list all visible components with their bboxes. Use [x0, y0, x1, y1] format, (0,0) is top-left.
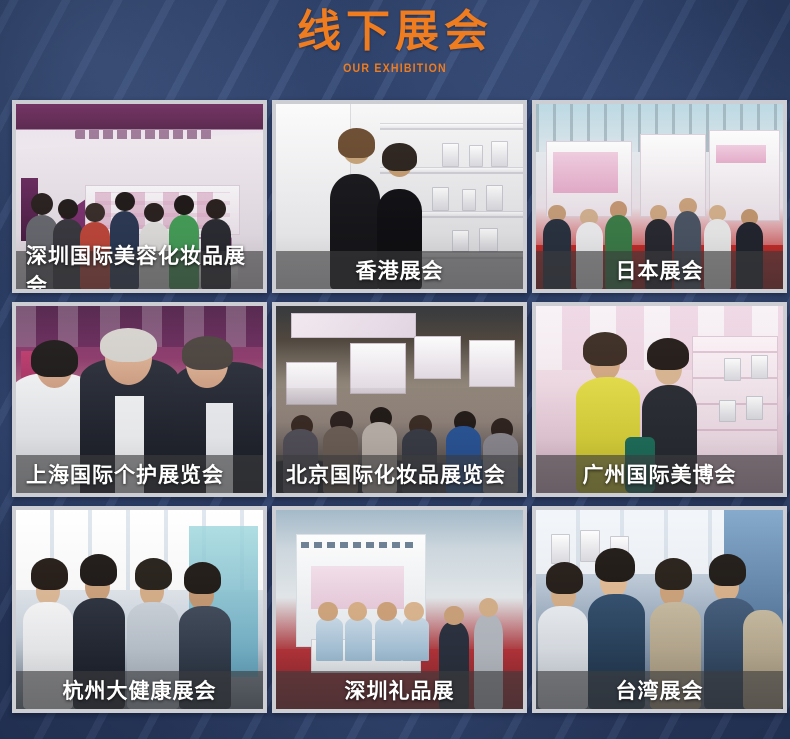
gallery-card-taiwan[interactable]: 台湾展会: [532, 506, 787, 713]
gallery-card-shanghai-personal-care[interactable]: 上海国际个护展览会: [12, 302, 267, 497]
gallery-card-japan[interactable]: 日本展会: [532, 100, 787, 293]
card-caption: 杭州大健康展会: [16, 671, 263, 709]
card-caption: 广州国际美博会: [536, 455, 783, 493]
page-header: 线下展会 OUR EXHIBITION: [0, 6, 790, 76]
gallery-card-hongkong[interactable]: 香港展会: [272, 100, 527, 293]
card-caption: 台湾展会: [536, 671, 783, 709]
exhibition-gallery-grid: 深圳国际美容化妆品展会: [12, 100, 778, 713]
gallery-card-guangzhou-beauty[interactable]: 广州国际美博会: [532, 302, 787, 497]
page-subtitle: OUR EXHIBITION: [32, 62, 759, 76]
card-caption: 深圳礼品展: [276, 671, 523, 709]
card-caption: 香港展会: [276, 251, 523, 289]
card-caption: 上海国际个护展览会: [16, 455, 263, 493]
card-caption: 日本展会: [536, 251, 783, 289]
gallery-card-hangzhou-health[interactable]: 杭州大健康展会: [12, 506, 267, 713]
page-title: 线下展会: [0, 6, 790, 58]
card-caption: 北京国际化妆品展览会: [276, 455, 523, 493]
exhibition-page: 线下展会 OUR EXHIBITION: [0, 0, 790, 739]
gallery-card-beijing-cosmetics[interactable]: 北京国际化妆品展览会: [272, 302, 527, 497]
card-caption: 深圳国际美容化妆品展会: [16, 251, 263, 289]
gallery-card-shenzhen-gift[interactable]: 深圳礼品展: [272, 506, 527, 713]
gallery-card-shenzhen-beauty[interactable]: 深圳国际美容化妆品展会: [12, 100, 267, 293]
